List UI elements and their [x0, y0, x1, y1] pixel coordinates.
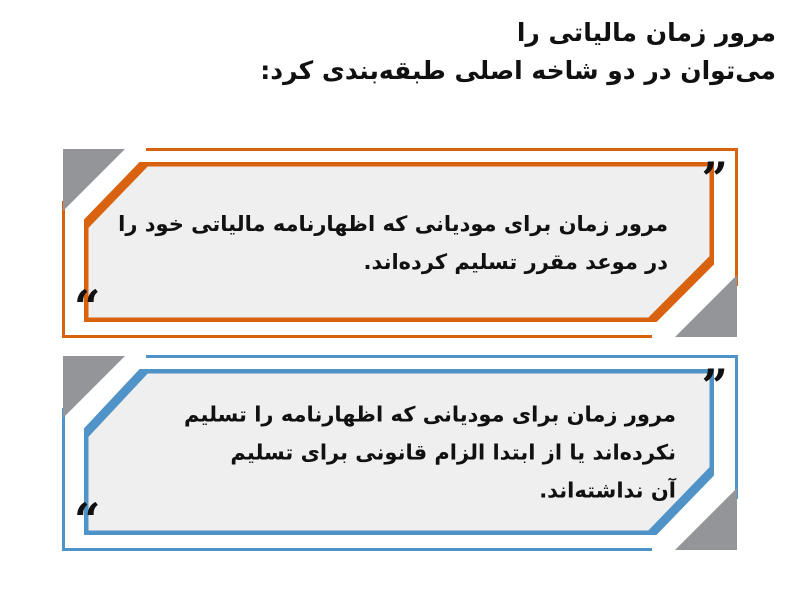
page-title-line-1: مرور زمان مالیاتی را — [180, 14, 776, 52]
outer-frame-bottom-rule — [62, 335, 652, 338]
corner-triangle-bottom-right — [675, 488, 737, 550]
close-quote-icon: ” — [702, 363, 728, 409]
open-quote-icon: “ — [74, 497, 100, 543]
quote-text: مرور زمان برای مودیانی که اظهارنامه را ت… — [158, 396, 676, 511]
page-title: مرور زمان مالیاتی را می‌توان در دو شاخه … — [180, 14, 776, 90]
close-quote-icon: ” — [702, 156, 728, 202]
outer-frame-bottom-rule — [62, 548, 652, 551]
quote-card-first-branch: ” “ مرور زمان برای مودیانی که اظهارنامه … — [62, 148, 738, 338]
outer-frame-right-rule — [735, 148, 738, 286]
quote-card-stage: ” “ مرور زمان برای مودیانی که اظهارنامه … — [62, 355, 738, 551]
open-quote-icon: “ — [74, 284, 100, 330]
quote-line: نکرده‌اند یا از ابتدا الزام قانونی برای … — [158, 434, 676, 472]
quote-card-stage: ” “ مرور زمان برای مودیانی که اظهارنامه … — [62, 148, 738, 338]
quote-line: در موعد مقرر تسلیم کرده‌اند. — [158, 243, 668, 281]
quote-card-second-branch: ” “ مرور زمان برای مودیانی که اظهارنامه … — [62, 355, 738, 551]
corner-triangle-bottom-right — [675, 275, 737, 337]
page-title-line-2: می‌توان در دو شاخه اصلی طبقه‌بندی کرد: — [180, 52, 776, 90]
quote-text: مرور زمان برای مودیانی که اظهارنامه مالی… — [158, 205, 668, 281]
outer-frame-left-rule — [62, 408, 65, 551]
outer-frame-top-rule — [146, 148, 738, 151]
outer-frame-left-rule — [62, 201, 65, 338]
outer-frame-top-rule — [146, 355, 738, 358]
outer-frame-right-rule — [735, 355, 738, 499]
corner-triangle-top-left — [63, 356, 125, 418]
corner-triangle-top-left — [63, 149, 125, 211]
quote-line: آن نداشته‌اند. — [158, 472, 676, 510]
quote-line: مرور زمان برای مودیانی که اظهارنامه را ت… — [158, 396, 676, 434]
quote-line: مرور زمان برای مودیانی که اظهارنامه مالی… — [158, 205, 668, 243]
